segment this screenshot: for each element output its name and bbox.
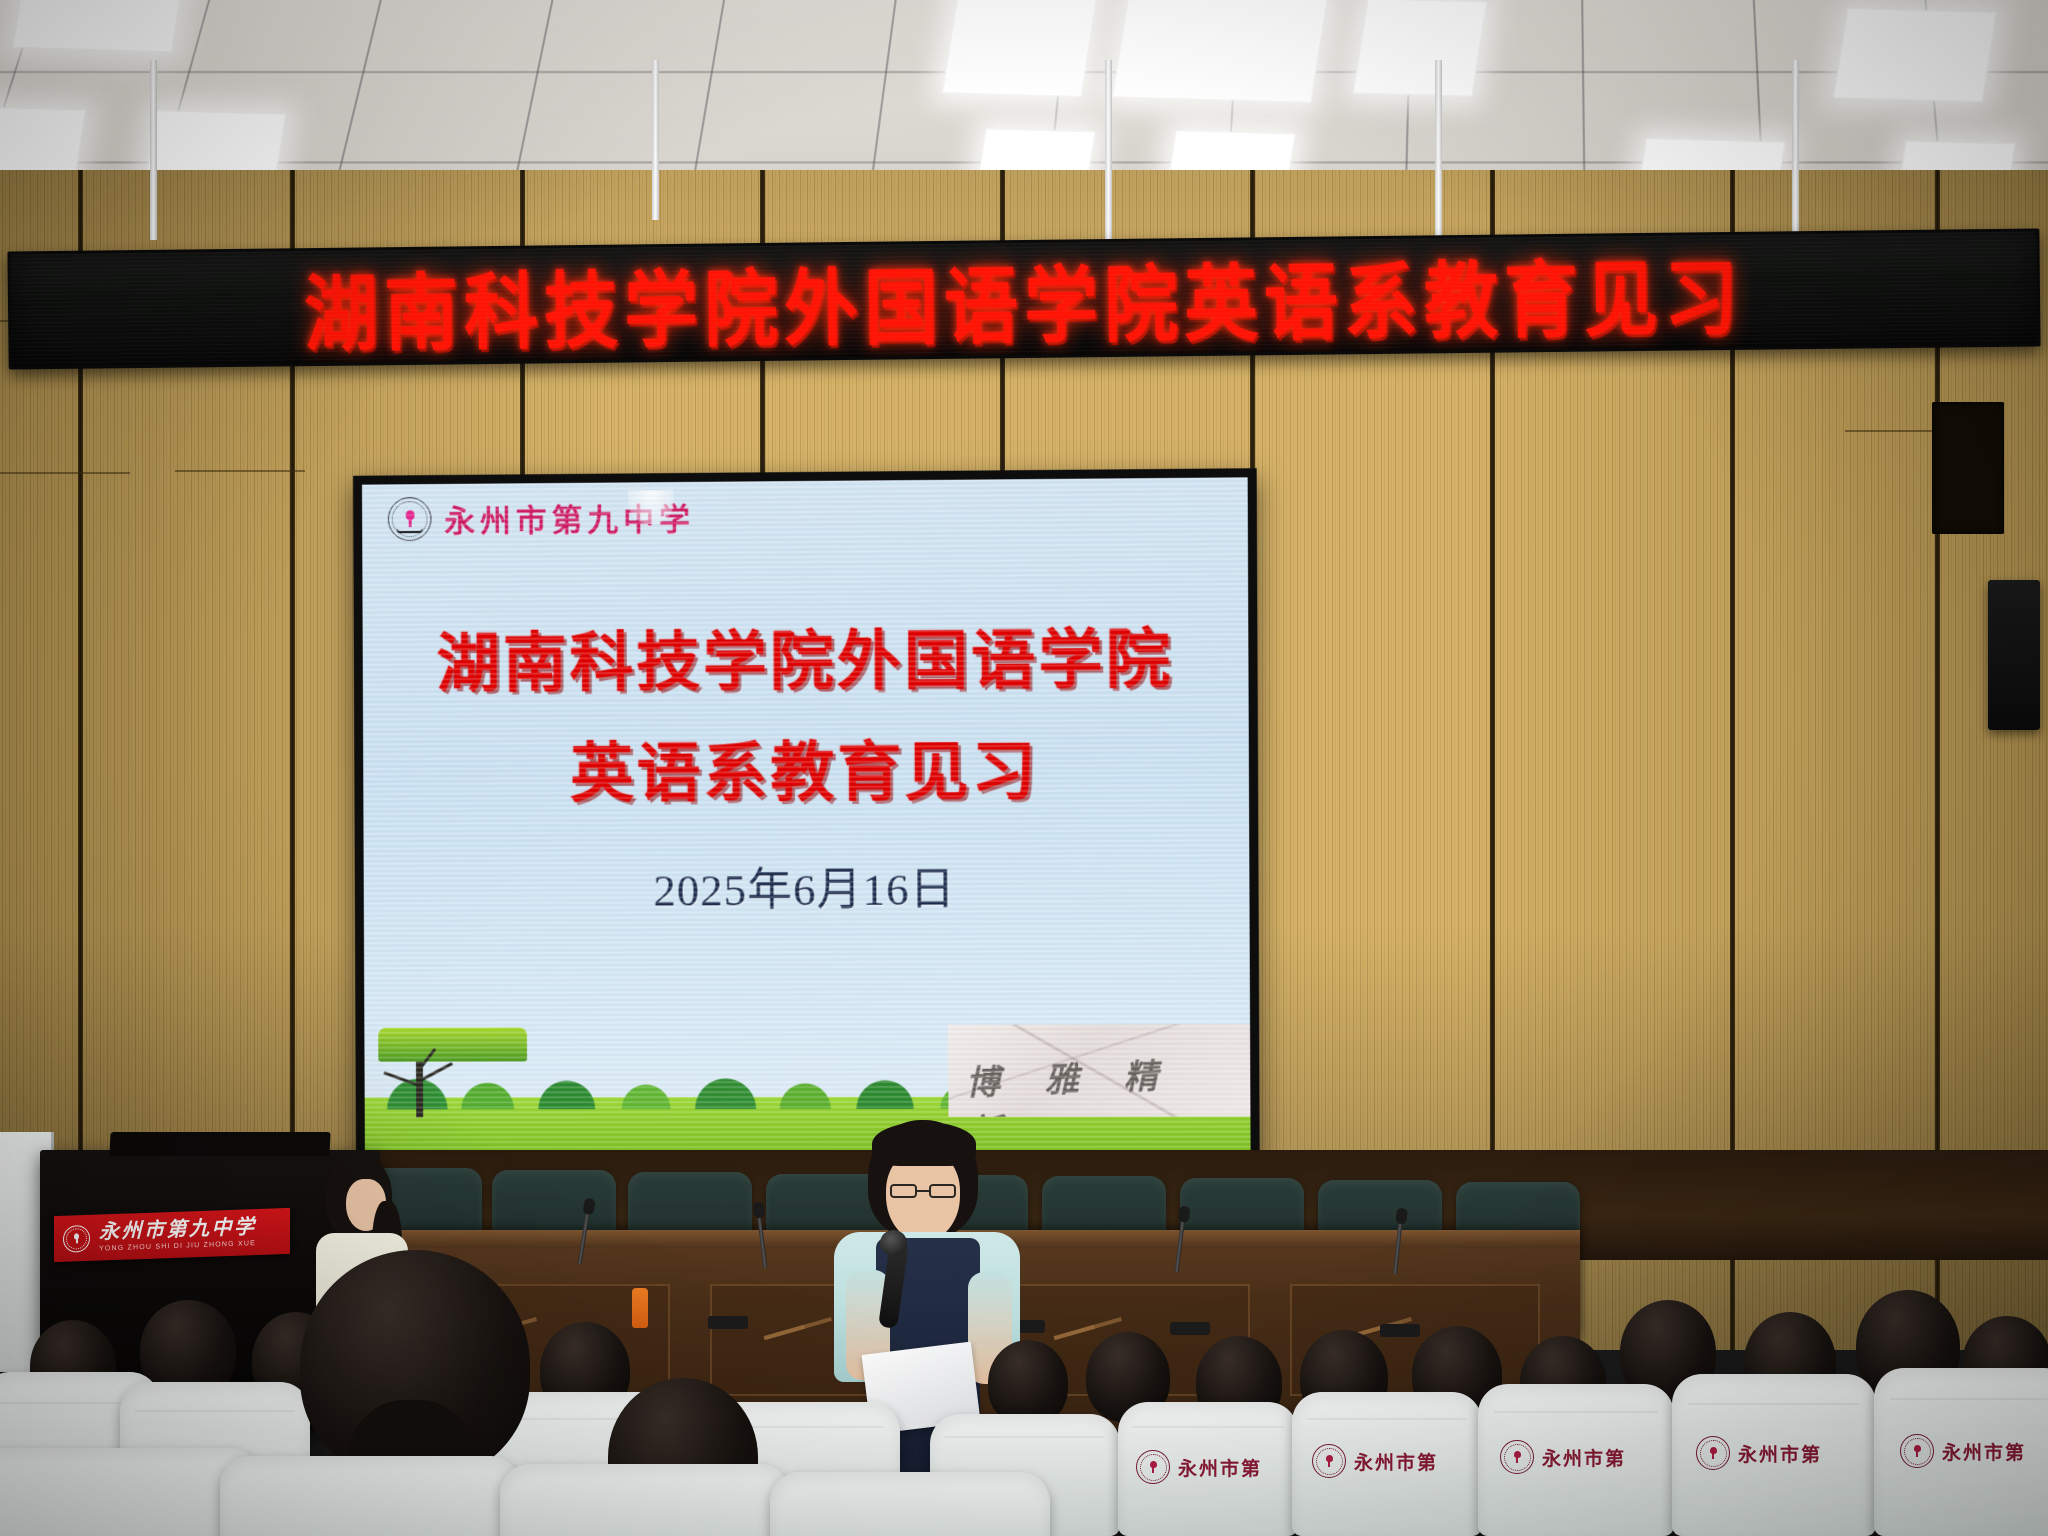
seat-cover-branding: 永州市第 bbox=[1312, 1444, 1438, 1478]
school-name-plaque: 永州市第九中学 YONG ZHOU SHI DI JIU ZHONG XUE bbox=[54, 1208, 290, 1262]
led-banner-text: 湖南科技学院外国语学院英语系教育见习 bbox=[303, 231, 1744, 367]
plaque-school-name-cn: 永州市第九中学 bbox=[99, 1217, 257, 1243]
school-torch-emblem-icon bbox=[1136, 1450, 1170, 1484]
school-motto-text: 博 雅 精 新 bbox=[965, 1045, 1251, 1117]
slide-date: 2025年6月16日 bbox=[364, 851, 1250, 919]
audience-seat-cover-foreground bbox=[220, 1456, 520, 1536]
ceiling-hanger-rod bbox=[1435, 60, 1442, 260]
wall-mark bbox=[175, 470, 305, 472]
ceiling-light-panel bbox=[1353, 0, 1488, 97]
slide-title-line2: 英语系教育见习 bbox=[363, 736, 1249, 809]
audience-seat-cover: 永州市第 bbox=[1292, 1392, 1482, 1536]
auditorium-scene: 湖南科技学院外国语学院英语系教育见习 永州市第九中学 湖南科技学院外国语学院 英… bbox=[0, 0, 2048, 1536]
seat-cover-branding: 永州市第 bbox=[1900, 1434, 2026, 1468]
school-torch-emblem-icon bbox=[1900, 1434, 1934, 1468]
audience-seat-cover: 永州市第 bbox=[1478, 1384, 1674, 1536]
ceiling-hanger-rod bbox=[150, 60, 157, 240]
audience-seat-cover: 永州市第 bbox=[1672, 1374, 1876, 1536]
audience-seat-cover-foreground bbox=[500, 1464, 790, 1536]
seat-cover-branding: 永州市第 bbox=[1136, 1450, 1262, 1484]
school-torch-emblem-icon bbox=[1500, 1440, 1534, 1474]
ceiling-hanger-rod bbox=[1105, 60, 1112, 250]
projection-screen: 永州市第九中学 湖南科技学院外国语学院 英语系教育见习 2025年6月16日 bbox=[362, 477, 1251, 1153]
wall-speaker bbox=[1988, 580, 2040, 730]
microphone-head-icon bbox=[880, 1230, 907, 1256]
slide-title-line1: 湖南科技学院外国语学院 bbox=[363, 624, 1249, 699]
seat-cover-label: 永州市第 bbox=[1354, 1448, 1438, 1475]
presenter-bangs bbox=[872, 1122, 976, 1166]
slide-landscape-graphic: 博 雅 精 新 bbox=[364, 1024, 1250, 1153]
water-bottle bbox=[632, 1288, 648, 1328]
seat-cover-branding: 永州市第 bbox=[1500, 1440, 1626, 1474]
ceiling-hanger-rod bbox=[652, 60, 659, 220]
ceiling-light-panel bbox=[1112, 0, 1328, 103]
acacia-tree bbox=[378, 1028, 527, 1118]
school-torch-emblem-icon bbox=[388, 497, 432, 541]
wall-vent bbox=[1932, 402, 2004, 534]
school-torch-emblem-icon bbox=[63, 1224, 90, 1252]
piano-lid bbox=[109, 1132, 330, 1156]
seat-cover-label: 永州市第 bbox=[1542, 1444, 1626, 1471]
audience-seat-cover: 永州市第 bbox=[1118, 1402, 1298, 1536]
wall-mark bbox=[0, 472, 130, 474]
microphone-base bbox=[708, 1316, 748, 1329]
ceiling-light-panel bbox=[942, 0, 1098, 97]
school-torch-emblem-icon bbox=[1696, 1436, 1730, 1470]
seat-cover-branding: 永州市第 bbox=[1696, 1436, 1822, 1470]
school-motto-band: 博 雅 精 新 bbox=[948, 1024, 1250, 1117]
microphone-base bbox=[1170, 1322, 1210, 1335]
led-marquee-banner: 湖南科技学院外国语学院英语系教育见习 bbox=[7, 228, 2040, 369]
audience-seat-cover-foreground bbox=[770, 1472, 1050, 1536]
seat-cover-label: 永州市第 bbox=[1178, 1454, 1262, 1481]
audience-seat-cover: 永州市第 bbox=[1874, 1368, 2048, 1536]
school-torch-emblem-icon bbox=[1312, 1444, 1346, 1478]
presenter-glasses-icon bbox=[890, 1184, 956, 1198]
slide-body: 湖南科技学院外国语学院 英语系教育见习 2025年6月16日 bbox=[363, 624, 1250, 920]
microphone-base bbox=[1380, 1324, 1420, 1337]
ceiling-light-panel bbox=[12, 0, 187, 52]
projection-screen-frame: 永州市第九中学 湖南科技学院外国语学院 英语系教育见习 2025年6月16日 bbox=[353, 468, 1260, 1162]
seat-cover-label: 永州市第 bbox=[1942, 1438, 2026, 1465]
ceiling-light-panel bbox=[1833, 8, 1997, 102]
seat-cover-label: 永州市第 bbox=[1738, 1440, 1822, 1467]
